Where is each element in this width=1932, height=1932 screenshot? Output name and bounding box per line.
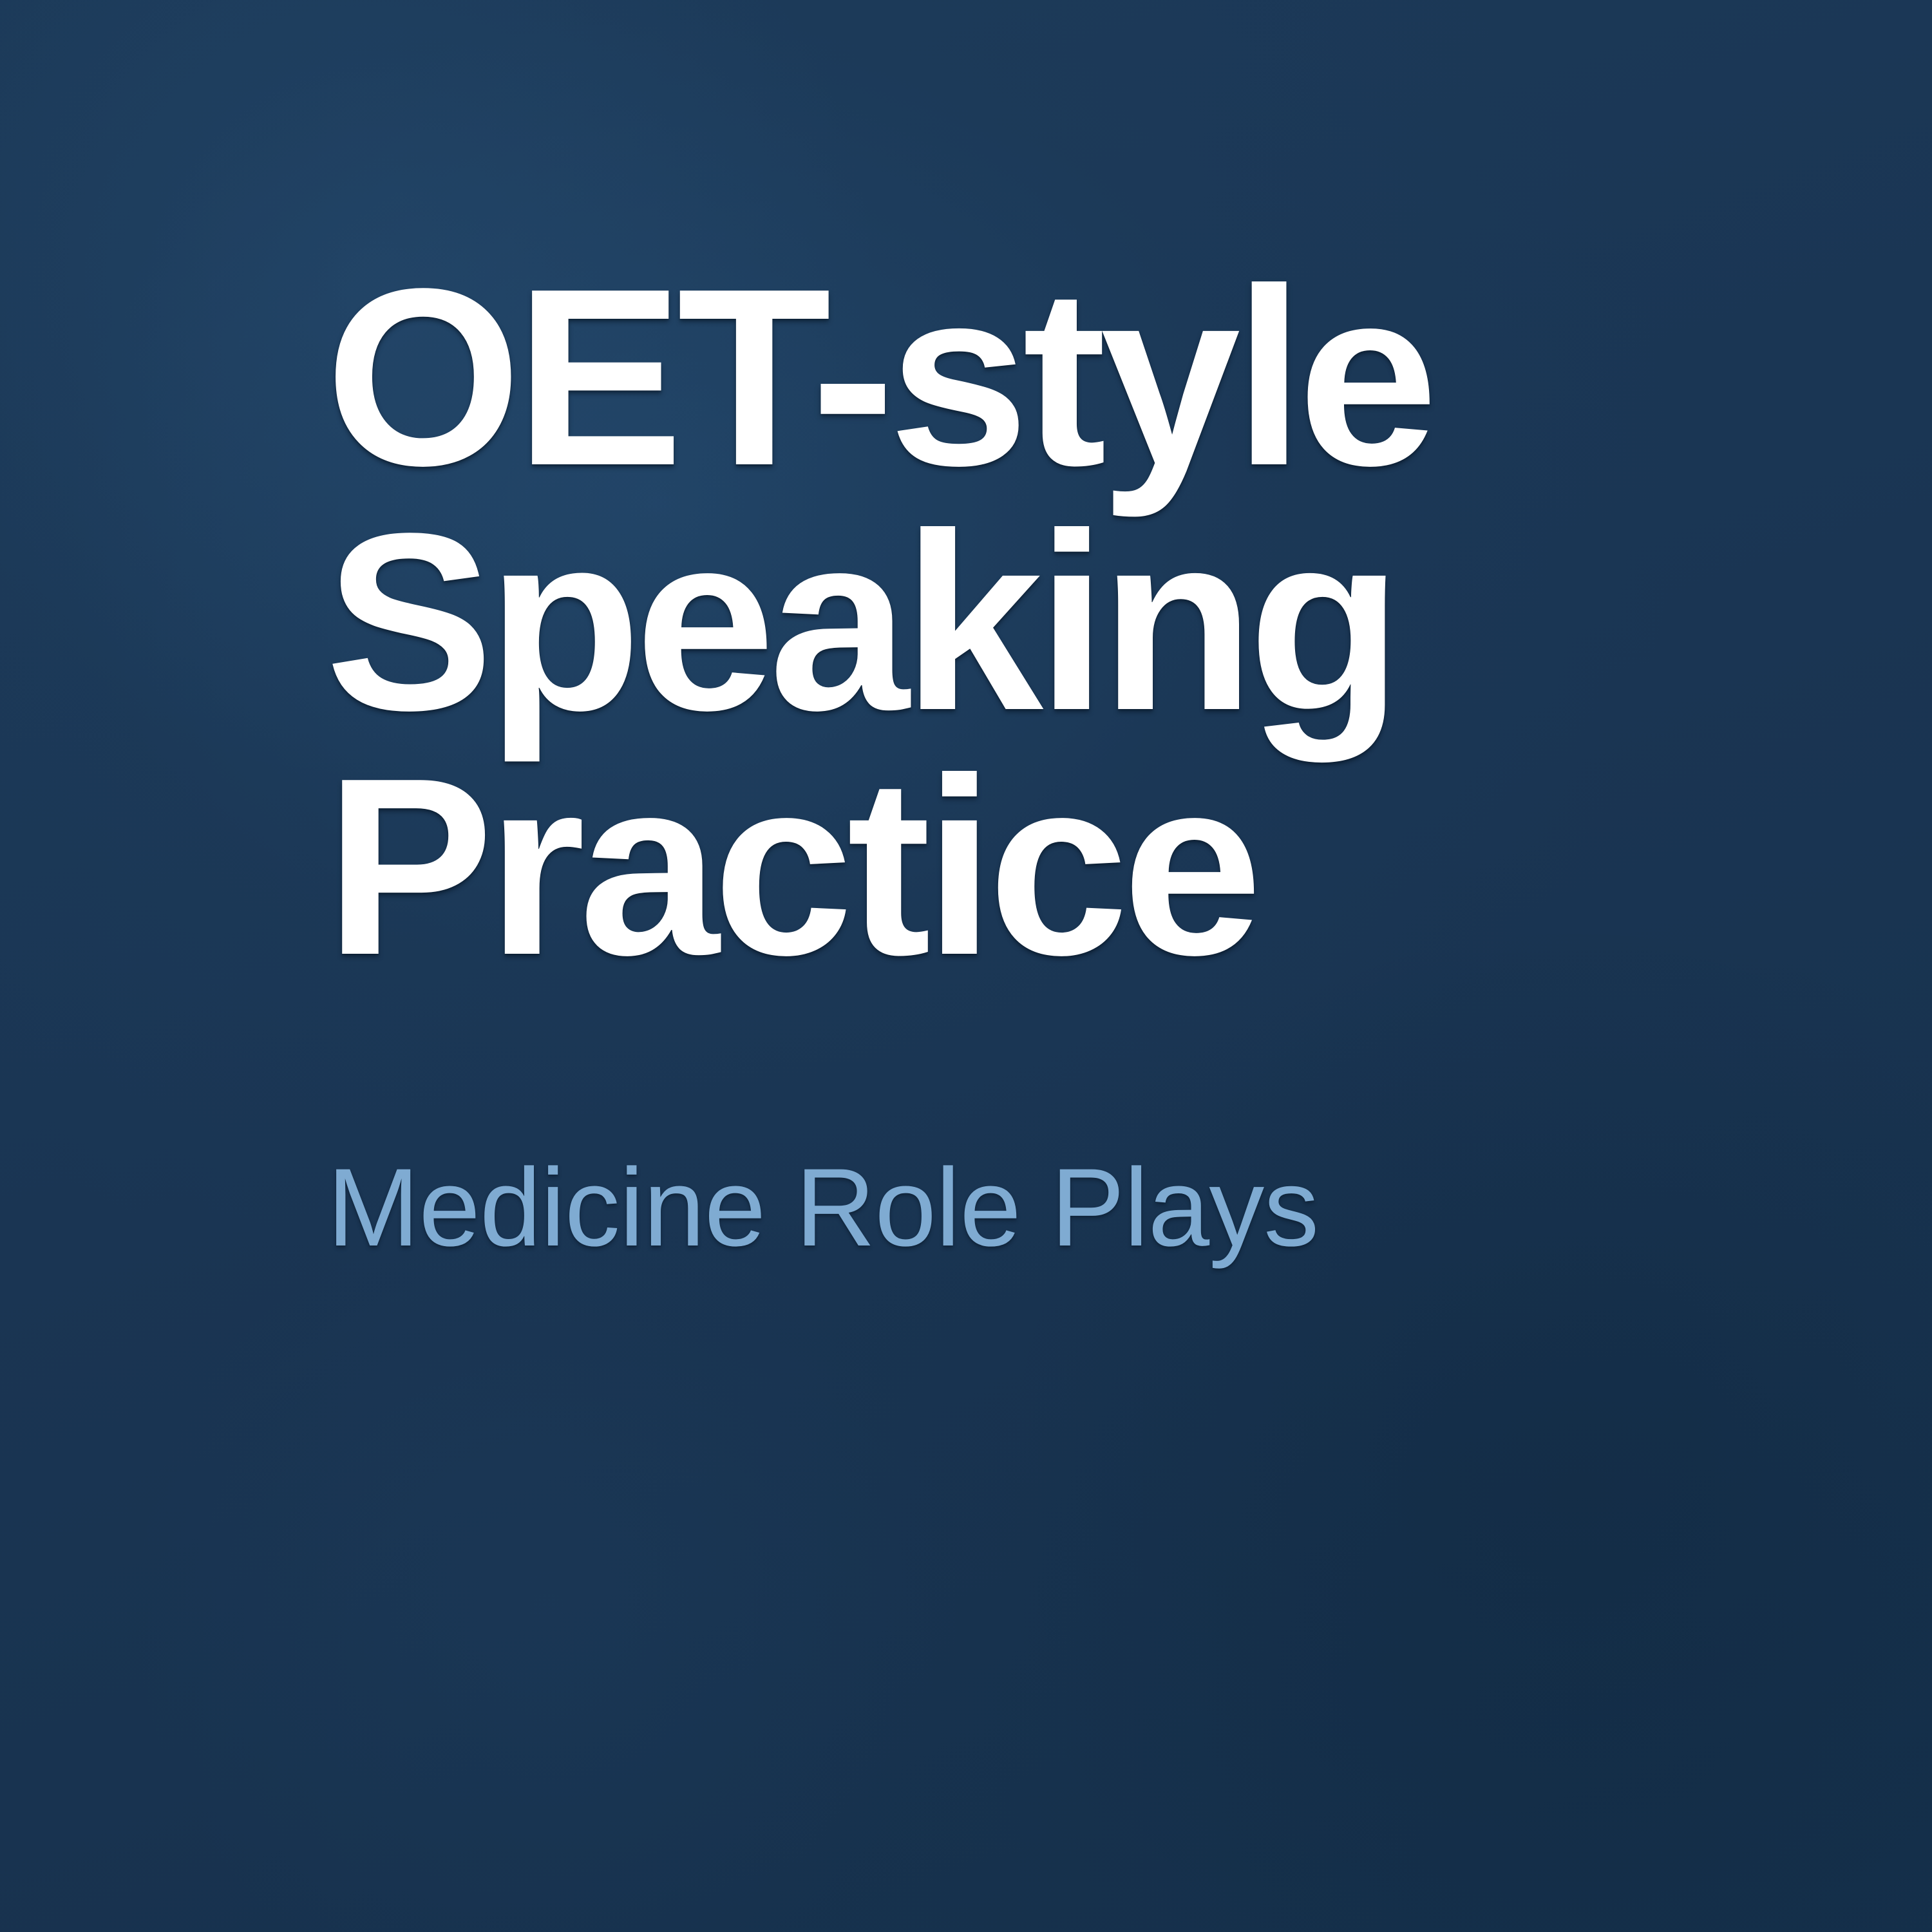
page-subtitle: Medicine Role Plays [327, 1150, 1318, 1265]
page-title: OET-style Speaking Practice [325, 255, 1432, 989]
poster-canvas: OET-style Speaking Practice Medicine Rol… [0, 0, 1932, 1932]
poster-text-block: OET-style Speaking Practice Medicine Rol… [325, 0, 1678, 1932]
